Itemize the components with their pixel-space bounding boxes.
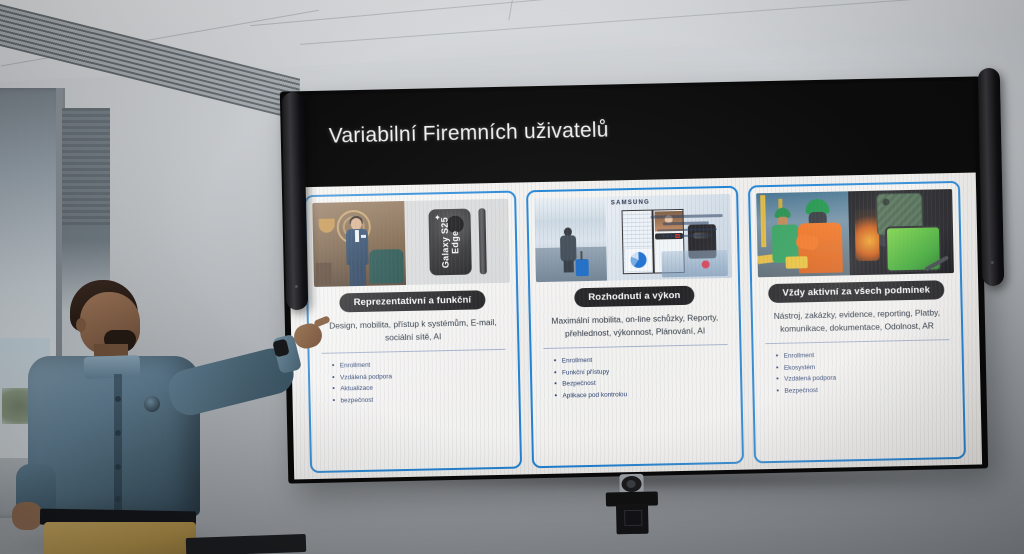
card-2-image: SAMSUNG [534,194,732,282]
phone-tile: ✦ Galaxy S25 Edge [428,209,471,276]
card-representative[interactable]: ✦ Galaxy S25 Edge Reprezentativní a funk… [304,191,522,474]
card-1-image: ✦ Galaxy S25 Edge [312,199,510,287]
card-3-image [756,189,954,277]
presenter-badge [144,396,160,412]
wall-display[interactable]: Variabilní Firemních uživatelů [280,76,988,483]
phone-side-profile [478,208,486,274]
rugged-devices-group [848,189,954,275]
pie-chart-icon [630,252,646,268]
led-indicator [991,261,994,264]
slide-title-bar: Variabilní Firemních uživatelů [286,81,976,188]
construction-site-photo [756,191,850,277]
people-silhouettes [661,250,728,277]
soundbar-right [978,68,1005,286]
card-3-description: Nástroj, zakázky, evidence, reporting, P… [759,306,955,335]
brand-label: SAMSUNG [611,200,650,207]
meeting-room-scene: Variabilní Firemních uživatelů [0,0,1024,554]
samsung-ad-panel: SAMSUNG [605,194,732,281]
samsung-banner-photo: SAMSUNG [534,194,732,282]
presenter-pants [44,522,196,554]
calendar-pane [621,210,653,275]
page-title: Variabilní Firemních uživatelů [329,119,609,149]
product-label: Galaxy S25 Edge [439,209,460,275]
card-1-pill: Reprezentativní a funkční [339,290,485,312]
card-2-bullets: Enrollment Funkční přístupy Bezpečnost A… [554,352,735,402]
display-screen[interactable]: Variabilní Firemních uživatelů [286,81,982,480]
card-2-pill: Rozhodnutí a výkon [574,286,694,308]
card-3-pill: Vždy aktivní za všech podmínek [768,280,944,303]
card-2-description: Maximální mobilita, on-line schůzky, Rep… [537,311,733,340]
card-decision-performance[interactable]: SAMSUNG [526,186,744,469]
presenter [8,278,324,554]
video-conference-camera [603,473,660,536]
card-1-bullets: Enrollment Vzdálená podpora Aktualizace … [332,357,513,407]
card-3-bullets: Enrollment Ekosystém Vzdálená podpora Be… [776,347,957,397]
rugged-usecase-photo [756,189,954,277]
airport-traveler-photo [534,197,606,283]
card-always-active[interactable]: Vždy aktivní za všech podmínek Nástroj, … [748,181,966,464]
card-3-divider [765,339,949,344]
ad-copy-lines [651,214,726,242]
table-edge [186,534,307,554]
card-2-divider [543,344,727,349]
galaxy-s25-edge-product-shot: ✦ Galaxy S25 Edge [404,199,510,285]
card-list: ✦ Galaxy S25 Edge Reprezentativní a funk… [304,181,966,473]
suit-man-photo [312,201,406,287]
card-1-description: Design, mobilita, přístup k systémům, E-… [315,316,511,345]
card-1-divider [322,349,506,354]
